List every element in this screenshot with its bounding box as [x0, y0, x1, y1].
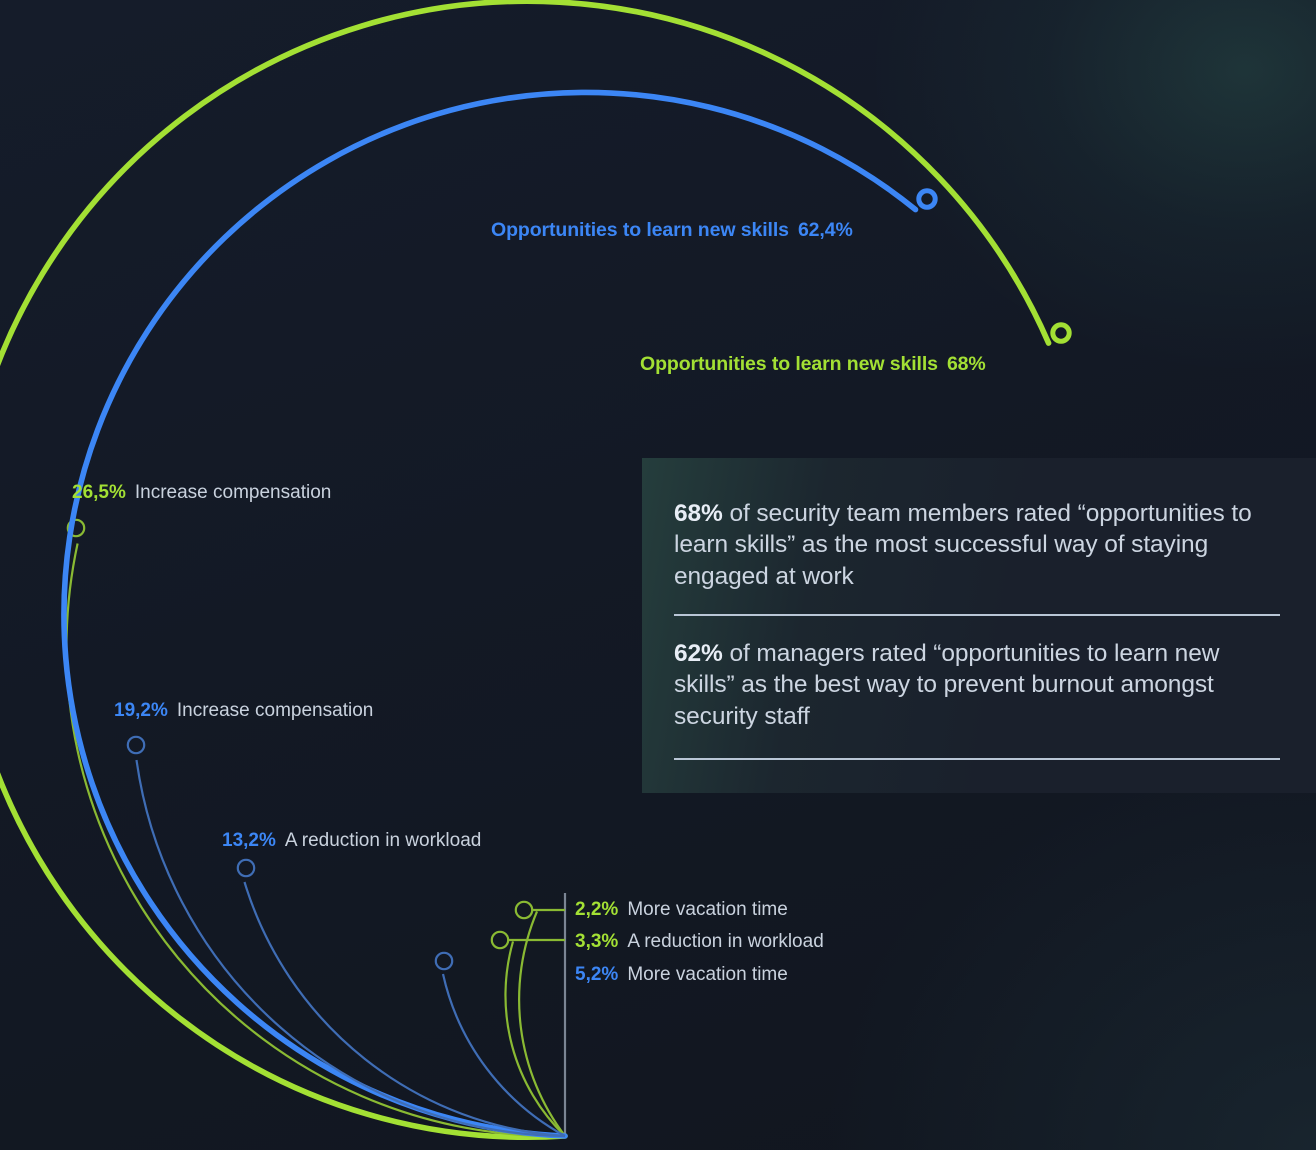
- callout-security-top: Opportunities to learn new skills68%: [640, 355, 986, 375]
- stat-2-text: of managers rated “opportunities to lear…: [674, 640, 1219, 730]
- arc-green-22: [519, 911, 565, 1136]
- panel-divider-2: [674, 758, 1280, 760]
- endpoint-blue-132: [238, 860, 254, 876]
- callout-label: Opportunities to learn new skills: [491, 219, 789, 241]
- panel-divider-1: [674, 614, 1280, 616]
- infographic-canvas: Opportunities to learn new skills62,4% O…: [0, 0, 1316, 1150]
- series-label-increase-compensation-green: 26,5%Increase compensation: [72, 483, 331, 502]
- label: More vacation time: [627, 899, 788, 920]
- callout-value: 62,4%: [798, 219, 853, 241]
- arc-green-33: [505, 942, 565, 1137]
- value: 26,5%: [72, 482, 126, 503]
- endpoint-green-22: [516, 902, 532, 918]
- label: A reduction in workload: [627, 931, 823, 952]
- label: A reduction in workload: [285, 830, 481, 851]
- series-label-increase-compensation-blue: 19,2%Increase compensation: [114, 701, 373, 720]
- callout-managers-top: Opportunities to learn new skills62,4%: [491, 221, 853, 241]
- endpoint-blue-192: [128, 737, 144, 753]
- value: 5,2%: [575, 964, 618, 985]
- series-label-vacation-green: 2,2%More vacation time: [575, 900, 788, 919]
- stat-2-value: 62%: [674, 640, 723, 667]
- endpoint-green-68: [1053, 325, 1069, 341]
- arc-blue-52: [443, 974, 565, 1136]
- key-findings-panel: 68% of security team members rated “oppo…: [642, 458, 1316, 793]
- stat-1-text: of security team members rated “opportun…: [674, 500, 1252, 590]
- stat-2: 62% of managers rated “opportunities to …: [674, 638, 1280, 732]
- stat-1-value: 68%: [674, 500, 723, 527]
- value: 2,2%: [575, 899, 618, 920]
- series-label-vacation-blue: 5,2%More vacation time: [575, 965, 788, 984]
- series-label-reduction-workload-blue: 13,2%A reduction in workload: [222, 831, 481, 850]
- callout-label: Opportunities to learn new skills: [640, 353, 938, 375]
- label: More vacation time: [627, 964, 788, 985]
- stat-1: 68% of security team members rated “oppo…: [674, 498, 1280, 592]
- value: 13,2%: [222, 830, 276, 851]
- arc-blue-132: [245, 882, 566, 1136]
- callout-value: 68%: [947, 353, 986, 375]
- label: Increase compensation: [177, 700, 373, 721]
- endpoint-blue-52: [436, 953, 452, 969]
- label: Increase compensation: [135, 482, 331, 503]
- value: 19,2%: [114, 700, 168, 721]
- series-label-reduction-workload-green: 3,3%A reduction in workload: [575, 932, 824, 951]
- endpoint-blue-624: [919, 191, 935, 207]
- endpoint-green-33: [492, 932, 508, 948]
- value: 3,3%: [575, 931, 618, 952]
